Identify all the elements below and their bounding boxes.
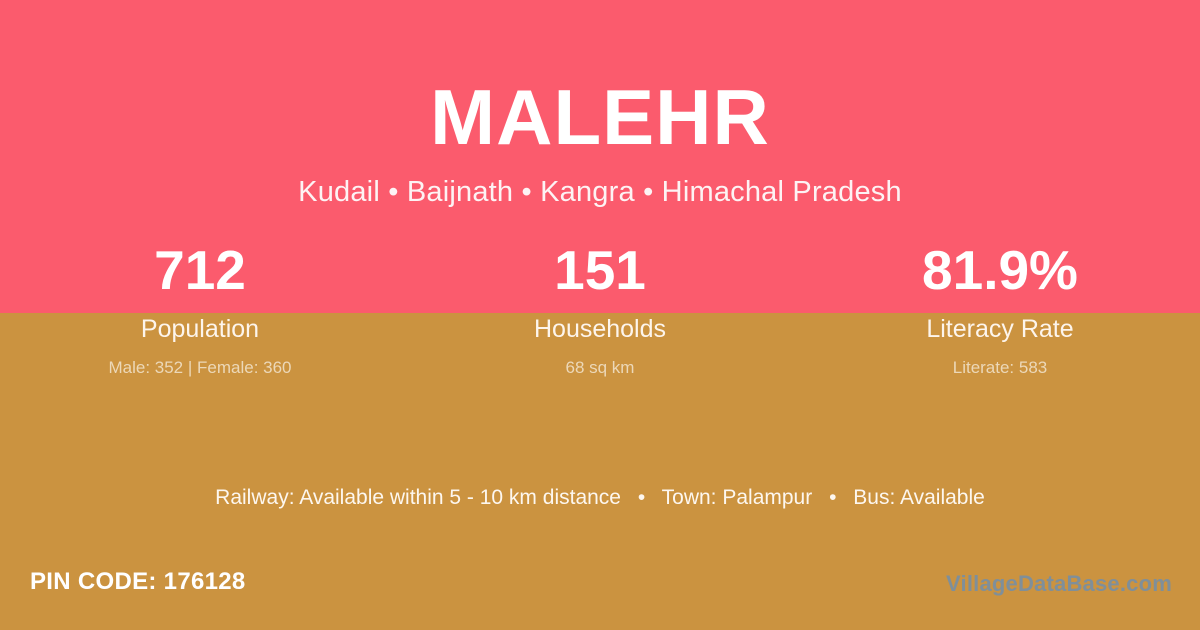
page-title: MALEHR: [0, 0, 1200, 156]
breadcrumb: Kudail • Baijnath • Kangra • Himachal Pr…: [0, 156, 1200, 207]
stat-households: 151 Households 68 sq km: [400, 243, 800, 376]
stat-label: Households: [400, 317, 800, 342]
card-footer: PIN CODE: 176128 VillageDataBase.com: [0, 560, 1200, 630]
pin-code: PIN CODE: 176128: [30, 570, 246, 594]
card-header: MALEHR Kudail • Baijnath • Kangra • Hima…: [0, 0, 1200, 207]
railway-info: Railway: Available within 5 - 10 km dist…: [215, 486, 621, 509]
bullet-separator-icon: •: [627, 487, 656, 508]
stat-sublabel: 68 sq km: [400, 359, 800, 376]
site-brand: VillageDataBase.com: [946, 573, 1172, 595]
stat-literacy-rate: 81.9% Literacy Rate Literate: 583: [800, 243, 1200, 376]
transport-info-line: Railway: Available within 5 - 10 km dist…: [0, 487, 1200, 508]
stat-value: 81.9%: [800, 243, 1200, 298]
stat-population: 712 Population Male: 352 | Female: 360: [0, 243, 400, 376]
bus-info: Bus: Available: [853, 486, 985, 509]
town-info: Town: Palampur: [662, 486, 813, 509]
stat-value: 712: [0, 243, 400, 298]
stats-row: 712 Population Male: 352 | Female: 360 1…: [0, 243, 1200, 376]
stat-label: Literacy Rate: [800, 317, 1200, 342]
stat-sublabel: Literate: 583: [800, 359, 1200, 376]
stat-label: Population: [0, 317, 400, 342]
bullet-separator-icon: •: [818, 487, 847, 508]
village-info-card: MALEHR Kudail • Baijnath • Kangra • Hima…: [0, 0, 1200, 630]
stat-sublabel: Male: 352 | Female: 360: [0, 359, 400, 376]
stat-value: 151: [400, 243, 800, 298]
